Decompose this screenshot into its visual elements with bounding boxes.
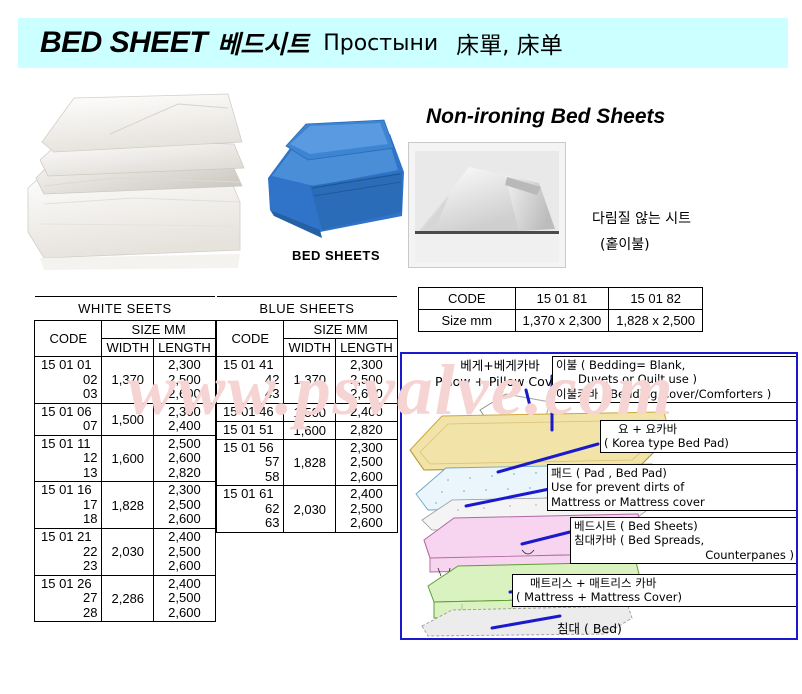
blue-sheets-caption: BED SHEETS (260, 248, 412, 263)
label-bedsheets-line2: 침대카바 ( Bed Spreads, (574, 533, 704, 547)
label-yo-line1: 요 + 요카바 (604, 422, 677, 436)
cell-code-rest: 02 03 (41, 373, 97, 402)
table-header-row: CODE SIZE MM (217, 321, 398, 339)
cell-code-rest: 42 43 (223, 373, 279, 402)
cell-length: 2,400 2,500 2,600 (154, 575, 216, 622)
table-header-row: CODE SIZE MM (35, 321, 216, 339)
label-yo-line2: ( Korea type Bed Pad) (604, 436, 729, 450)
non-ironing-spec-table: CODE 15 01 81 15 01 82 Size mm 1,370 x 2… (418, 287, 703, 332)
cell-width: 1,600 (284, 421, 336, 439)
cell-code-1: 15 01 81 (515, 288, 609, 310)
blue-sheets-table: BLUE SHEETS CODE SIZE MM WIDTH LENGTH 15… (216, 296, 382, 533)
cell-code-rest: 22 23 (41, 545, 97, 574)
bedding-layers-diagram: 베게+베게카바 Pillow + Pillow Cover 이불 ( Beddi… (400, 352, 798, 640)
label-bedsheets-line3: Counterpanes ) (574, 548, 794, 562)
table-title-row: WHITE SEETS (35, 297, 216, 321)
label-mattress: 매트리스 + 매트리스 카바 ( Mattress + Mattress Cov… (512, 574, 798, 607)
label-pad-line3: Mattress or Mattress cover (551, 495, 705, 509)
label-bedsheets-line1: 베드시트 ( Bed Sheets) (574, 519, 698, 533)
label-pad-line2: Use for prevent dirts of (551, 480, 684, 494)
cell-length: 2,300 2,400 (154, 403, 216, 435)
header-length: LENGTH (154, 339, 216, 357)
table-row: 15 01 0607 1,500 2,300 2,400 (35, 403, 216, 435)
table-row: 15 01 4142 43 1,370 2,300 2,500 2,600 (217, 357, 398, 404)
table-row: 15 01 1112 13 1,600 2,500 2,600 2,820 (35, 435, 216, 482)
cell-length: 2,300 2,500 2,600 (154, 357, 216, 404)
table-row: 15 01 1617 18 1,828 2,300 2,500 2,600 (35, 482, 216, 529)
cell-code-first: 15 01 26 (41, 577, 97, 592)
label-pad: 패드 ( Pad , Bed Pad) Use for prevent dirt… (547, 464, 798, 511)
cell-code-rest: 57 58 (223, 455, 279, 484)
cell-code-first: 15 01 11 (41, 437, 97, 452)
title-chinese: 床單, 床单 (456, 26, 563, 60)
label-bed-sheets: 베드시트 ( Bed Sheets) 침대카바 ( Bed Spreads, C… (570, 517, 798, 564)
label-pillow-ko: 베게+베게카바 (460, 358, 539, 373)
cell-length: 2,400 2,500 2,600 (336, 486, 398, 533)
header-code: CODE (217, 321, 284, 357)
cell-code-rest: 07 (41, 419, 97, 434)
non-ironing-title: Non-ironing Bed Sheets (426, 105, 665, 129)
label-pillow-en: Pillow + Pillow Cover (435, 374, 565, 389)
header-width: WIDTH (284, 339, 336, 357)
white-table-title: WHITE SEETS (35, 297, 216, 321)
cell-length: 2,300 2,500 2,600 (154, 482, 216, 529)
title-english: BED SHEET (40, 26, 207, 60)
cell-width: 1,500 (284, 403, 336, 421)
non-ironing-korean-line2: (홑이불) (600, 234, 650, 254)
table-row: 15 01 51 1,600 2,820 (217, 421, 398, 439)
title-russian: Простыни (323, 31, 438, 56)
cell-size-label: Size mm (419, 310, 516, 332)
non-ironing-sheet-photo (408, 142, 566, 268)
blue-bed-sheets-photo (262, 112, 410, 242)
cell-code-rest: 62 63 (223, 502, 279, 531)
header-size: SIZE MM (102, 321, 215, 339)
table-row: 15 01 2122 23 2,030 2,400 2,500 2,600 (35, 529, 216, 576)
cell-code-first: 15 01 21 (41, 530, 97, 545)
header-length: LENGTH (336, 339, 398, 357)
cell-code-first: 15 01 56 (223, 441, 279, 456)
table-row: 15 01 5657 58 1,828 2,300 2,500 2,600 (217, 439, 398, 486)
label-mattress-line1: 매트리스 + 매트리스 카바 (516, 576, 656, 590)
table-row: 15 01 0102 03 1,370 2,300 2,500 2,600 (35, 357, 216, 404)
label-bedding-line1: 이불 ( Bedding= Blank, (556, 358, 685, 372)
table-row: 15 01 46 1,500 2,400 (217, 403, 398, 421)
header-size: SIZE MM (284, 321, 397, 339)
cell-width: 1,370 (102, 357, 154, 404)
non-ironing-korean-line1: 다림질 않는 시트 (592, 208, 691, 228)
table-title-row: BLUE SHEETS (217, 297, 398, 321)
cell-length: 2,400 (336, 403, 398, 421)
white-sheets-table: WHITE SEETS CODE SIZE MM WIDTH LENGTH 15… (34, 296, 210, 622)
cell-width: 1,600 (102, 435, 154, 482)
cell-code-first: 15 01 06 (41, 405, 97, 420)
label-bed: 침대 ( Bed) (557, 618, 622, 637)
table-row: 15 01 6162 63 2,030 2,400 2,500 2,600 (217, 486, 398, 533)
cell-code-first: 15 01 41 (223, 358, 279, 373)
cell-width: 1,828 (102, 482, 154, 529)
cell-length: 2,300 2,500 2,600 (336, 439, 398, 486)
cell-size-1: 1,370 x 2,300 (515, 310, 609, 332)
cell-code-first: 15 01 16 (41, 483, 97, 498)
cell-length: 2,400 2,500 2,600 (154, 529, 216, 576)
cell-code-first: 15 01 46 (223, 405, 279, 420)
cell-code-rest: 27 28 (41, 591, 97, 620)
label-mattress-line2: ( Mattress + Mattress Cover) (516, 590, 682, 604)
cell-width: 1,370 (284, 357, 336, 404)
title-korean: 베드시트 (217, 25, 309, 61)
cell-code-rest: 17 18 (41, 498, 97, 527)
label-pad-line1: 패드 ( Pad , Bed Pad) (551, 466, 667, 480)
cell-width: 2,286 (102, 575, 154, 622)
cell-width: 2,030 (284, 486, 336, 533)
cell-code-first: 15 01 51 (223, 423, 279, 438)
cell-width: 1,500 (102, 403, 154, 435)
label-bedding: 이불 ( Bedding= Blank, Duvets or Quilt use… (552, 356, 798, 403)
table-row: 15 01 2627 28 2,286 2,400 2,500 2,600 (35, 575, 216, 622)
label-bedding-line2: Duvets or Quilt use ) (556, 372, 697, 386)
header-code: CODE (35, 321, 102, 357)
cell-length: 2,300 2,500 2,600 (336, 357, 398, 404)
page-title-banner: BED SHEET 베드시트 Простыни 床單, 床单 (18, 18, 788, 68)
table-row: Size mm 1,370 x 2,300 1,828 x 2,500 (419, 310, 703, 332)
cell-code-first: 15 01 01 (41, 358, 97, 373)
cell-code-2: 15 01 82 (609, 288, 703, 310)
table-row: CODE 15 01 81 15 01 82 (419, 288, 703, 310)
white-bed-sheets-photo (14, 82, 252, 274)
cell-size-2: 1,828 x 2,500 (609, 310, 703, 332)
cell-code-label: CODE (419, 288, 516, 310)
header-width: WIDTH (102, 339, 154, 357)
label-yo-bedpad: 요 + 요카바 ( Korea type Bed Pad) (600, 420, 798, 453)
blue-table-title: BLUE SHEETS (217, 297, 398, 321)
cell-code-first: 15 01 61 (223, 487, 279, 502)
label-bedding-line3: 이불카바 ( Bedding Cover/Comforters ) (556, 387, 771, 401)
cell-length: 2,500 2,600 2,820 (154, 435, 216, 482)
cell-width: 1,828 (284, 439, 336, 486)
cell-code-rest: 12 13 (41, 451, 97, 480)
cell-length: 2,820 (336, 421, 398, 439)
cell-width: 2,030 (102, 529, 154, 576)
